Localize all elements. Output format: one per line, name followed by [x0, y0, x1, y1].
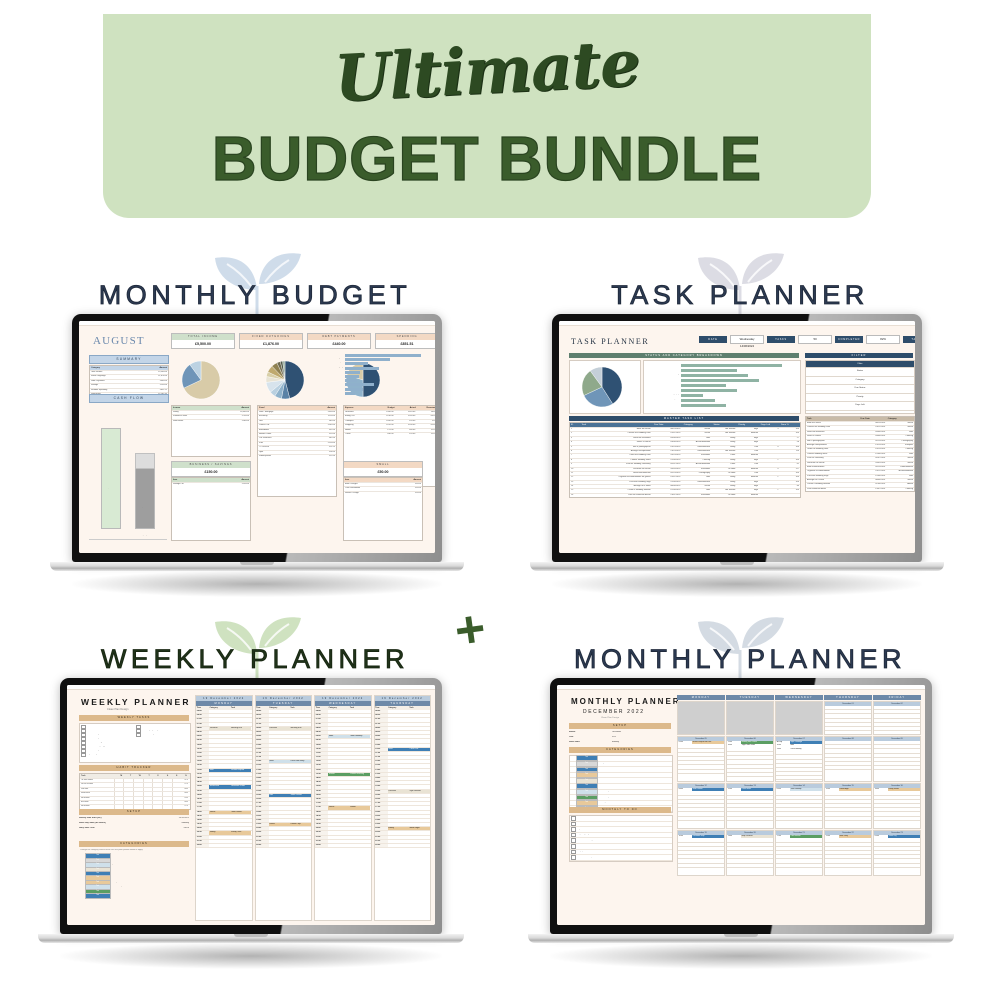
mp-event[interactable]: 13:00Wrap Presents [727, 835, 773, 838]
weekly-task-cell[interactable] [349, 752, 370, 755]
mp-day-cell[interactable]: December 02 [873, 701, 921, 735]
weekly-task-cell[interactable] [230, 714, 251, 717]
weekly-task-cell[interactable]: Team Dinner [230, 811, 251, 814]
spreadsheet-task-planner[interactable]: TASK PLANNER DATEWednesday 14/06/2024TAS… [559, 321, 915, 553]
weekly-category-cell[interactable] [328, 794, 349, 797]
weekly-task-cell[interactable] [409, 815, 430, 818]
habit-cell[interactable] [114, 788, 124, 791]
mp-empty-row[interactable] [825, 731, 871, 735]
weekly-task-cell[interactable] [349, 756, 370, 759]
spend-bar[interactable] [345, 392, 355, 395]
weekly-category-cell[interactable] [209, 840, 230, 843]
weekly-task-cell[interactable] [409, 735, 430, 738]
mp-empty-row[interactable] [727, 817, 773, 821]
weekly-task-cell[interactable] [409, 773, 430, 776]
weekly-task-cell[interactable] [409, 718, 430, 721]
weekly-category-cell[interactable] [388, 752, 409, 755]
weekly-category-cell[interactable] [209, 819, 230, 822]
weekly-task-cell[interactable]: Team Standup [349, 735, 370, 738]
habit-cell[interactable]: 29% [181, 797, 190, 800]
mp-day-cell[interactable]: December 2309:00Travel Day [873, 830, 921, 876]
weekly-category-cell[interactable] [269, 731, 290, 734]
weekly-category-cell[interactable] [328, 727, 349, 730]
tp-cat-bar[interactable] [681, 364, 782, 367]
small-table[interactable]: ItemAmountBank Charges£20.00Cash Withdra… [343, 477, 423, 541]
weekly-task-cell[interactable]: Movie Night [409, 827, 430, 830]
weekly-category-cell[interactable] [328, 744, 349, 747]
weekly-task-cell[interactable]: Parents Evening [349, 773, 370, 776]
habit-cell[interactable] [152, 801, 162, 804]
mp-empty-row[interactable] [825, 766, 871, 770]
weekly-category-cell[interactable] [269, 718, 290, 721]
weekly-category-cell[interactable] [328, 831, 349, 834]
habit-cell[interactable]: 43% [181, 788, 190, 791]
weekly-category-cell[interactable] [269, 802, 290, 805]
weekly-category-cell[interactable] [209, 777, 230, 780]
weekly-task-cell[interactable] [230, 844, 251, 847]
mp-day-cell[interactable]: December 0611:00Meeting with Charlie16:0… [726, 736, 774, 782]
weekly-task-cell[interactable]: Swim Lesson [290, 794, 311, 797]
weekly-task-cell[interactable]: School Drop-off [230, 769, 251, 772]
weekly-category-cell[interactable] [388, 840, 409, 843]
cashflow-bar[interactable] [101, 428, 121, 529]
weekly-category-cell[interactable]: Family [388, 827, 409, 830]
weekly-task-cell[interactable] [409, 739, 430, 742]
mp-empty-row[interactable] [874, 817, 920, 821]
task-table[interactable]: ID Task Due Date Category Status Priorit… [569, 422, 801, 498]
weekly-category-cell[interactable] [388, 769, 409, 772]
weekly-category-cell[interactable] [269, 844, 290, 847]
mp-empty-row[interactable] [825, 864, 871, 868]
weekly-category-cell[interactable] [328, 823, 349, 826]
weekly-task-cell[interactable] [290, 739, 311, 742]
weekly-task-cell[interactable] [409, 794, 430, 797]
habit-cell[interactable] [123, 801, 133, 804]
spend-bar[interactable] [345, 383, 374, 386]
weekly-category-cell[interactable] [388, 798, 409, 801]
task-kpi-value-2[interactable]: 82% [866, 335, 900, 344]
filter-field-3[interactable]: Due Status [806, 385, 914, 394]
weekly-task-cell[interactable] [290, 819, 311, 822]
mp-empty-row[interactable] [776, 817, 822, 821]
habit-cell[interactable] [114, 797, 124, 800]
weekly-task-cell[interactable] [230, 798, 251, 801]
mp-event[interactable]: 15:00Dentist Appt [825, 788, 871, 791]
weekly-task-cell[interactable] [349, 798, 370, 801]
mp-day-cell[interactable]: December 1618:00Family Dinner [873, 783, 921, 829]
categories-legend[interactable]: 1TextKids2TextPersonal3Textyou – School4… [79, 854, 189, 898]
weekly-category-cell[interactable] [328, 790, 349, 793]
checkbox[interactable] [571, 850, 576, 855]
weekly-category-cell[interactable] [269, 769, 290, 772]
tp-cat-bar[interactable] [681, 374, 748, 377]
weekly-task-cell[interactable] [230, 760, 251, 763]
weekly-category-cell[interactable] [388, 723, 409, 726]
habit-cell[interactable] [133, 801, 143, 804]
weekly-task-cell[interactable] [409, 764, 430, 767]
mp-day-cell[interactable]: December 1409:30Team Standup [775, 783, 823, 829]
habit-cell[interactable] [114, 779, 124, 782]
habit-cell[interactable] [133, 797, 143, 800]
weekly-task-cell[interactable] [409, 752, 430, 755]
savings-card[interactable]: BUSINESS / SAVINGS £150.00 [171, 461, 251, 477]
weekly-task-cell[interactable] [290, 744, 311, 747]
habit-cell[interactable]: No alcohol [80, 797, 114, 800]
spend-bar[interactable] [345, 358, 390, 361]
weekly-category-cell[interactable] [269, 764, 290, 767]
weekly-task-cell[interactable] [290, 731, 311, 734]
mp-event[interactable]: 12:00Lunch Break [727, 788, 773, 791]
mp-day-cell[interactable] [726, 701, 774, 735]
weekly-category-cell[interactable]: School [328, 773, 349, 776]
checkbox[interactable] [571, 822, 576, 827]
cashflow-bar[interactable] [135, 467, 155, 529]
weekly-day-column-2[interactable]: 19 December 2022WEDNESDAYTimeCategoryTas… [314, 695, 372, 921]
habit-cell[interactable] [133, 779, 143, 782]
weekly-category-cell[interactable] [388, 831, 409, 834]
weekly-task-cell[interactable] [290, 836, 311, 839]
weekly-task-cell[interactable] [290, 735, 311, 738]
habit-cell[interactable]: Tie nice towels [80, 779, 114, 782]
weekly-category-cell[interactable] [269, 827, 290, 830]
weekly-category-cell[interactable] [388, 731, 409, 734]
weekly-task-cell[interactable] [349, 769, 370, 772]
weekly-category-cell[interactable] [328, 764, 349, 767]
weekly-category-cell[interactable] [209, 714, 230, 717]
habit-cell[interactable] [123, 779, 133, 782]
habit-table[interactable]: TaskMTWTFSS% Tie nice towels57%Do fun so… [79, 773, 191, 810]
habit-cell[interactable] [114, 801, 124, 804]
weekly-task-cell[interactable] [290, 844, 311, 847]
weekly-category-cell[interactable] [269, 777, 290, 780]
mp-empty-row[interactable] [874, 864, 920, 868]
mp-event[interactable]: 10:00Christmas Shop [678, 835, 724, 838]
setup-field-value[interactable]: 06:00 [152, 827, 189, 832]
weekly-category-cell[interactable] [209, 723, 230, 726]
habit-cell[interactable] [123, 797, 133, 800]
mp-day-cell[interactable]: December 2117:00Carol Service [775, 830, 823, 876]
weekly-category-cell[interactable] [388, 823, 409, 826]
mp-day-cell[interactable]: December 09 [873, 736, 921, 782]
weekly-task-cell[interactable] [409, 731, 430, 734]
weekly-task-cell[interactable] [290, 798, 311, 801]
weekly-category-cell[interactable] [269, 723, 290, 726]
weekly-category-cell[interactable] [328, 714, 349, 717]
mp-event[interactable]: 16:00Yoga Class Tester [727, 744, 773, 747]
weekly-task-cell[interactable] [349, 815, 370, 818]
weekly-category-cell[interactable] [388, 844, 409, 847]
weekly-task-cell[interactable] [409, 840, 430, 843]
weekly-category-cell[interactable] [209, 794, 230, 797]
weekly-category-cell[interactable] [328, 777, 349, 780]
weekly-task-cell[interactable] [230, 840, 251, 843]
weekly-category-cell[interactable] [209, 710, 230, 713]
habit-cell[interactable] [172, 783, 182, 786]
mp-event[interactable]: 09:30Team Standup [776, 788, 822, 791]
weekly-category-cell[interactable] [328, 718, 349, 721]
weekly-category-cell[interactable] [328, 710, 349, 713]
weekly-category-cell[interactable] [328, 748, 349, 751]
mp-event[interactable]: 09:00Travel Day [874, 835, 920, 838]
checkbox[interactable] [571, 844, 576, 849]
mp-day-cell[interactable]: December 1910:00Christmas Shop [677, 830, 725, 876]
habit-cell[interactable]: 71% [181, 783, 190, 786]
weekly-category-cell[interactable] [328, 802, 349, 805]
weekly-task-cell[interactable] [349, 840, 370, 843]
weekly-task-cell[interactable] [290, 827, 311, 830]
habit-cell[interactable] [162, 788, 172, 791]
weekly-category-cell[interactable] [328, 811, 349, 814]
weekly-category-cell[interactable] [209, 764, 230, 767]
weekly-task-cell[interactable] [230, 819, 251, 822]
weekly-time-row[interactable]: 22:00 [256, 844, 312, 848]
weekly-task-cell[interactable] [290, 752, 311, 755]
weekly-category-cell[interactable] [388, 781, 409, 784]
weekly-task-cell[interactable] [349, 710, 370, 713]
habit-cell[interactable] [172, 801, 182, 804]
weekly-task-cell[interactable] [230, 827, 251, 830]
habit-cell[interactable]: 43% [181, 801, 190, 804]
weekly-category-cell[interactable]: Dinner [209, 811, 230, 814]
weekly-category-cell[interactable] [388, 815, 409, 818]
mp-event[interactable]: 18:00Family Dinner [874, 788, 920, 791]
weekly-category-cell[interactable] [209, 827, 230, 830]
setup-panel[interactable]: MonthDecemberYear2022Week StartMonday [569, 731, 671, 746]
checkbox[interactable] [571, 855, 576, 860]
weekly-task-cell[interactable] [290, 815, 311, 818]
weekly-category-cell[interactable] [209, 735, 230, 738]
weekly-task-cell[interactable] [290, 790, 311, 793]
weekly-task-cell[interactable] [290, 756, 311, 759]
mp-setup-value[interactable]: Monday [612, 741, 672, 746]
weekly-task-cell[interactable] [409, 806, 430, 809]
mp-event[interactable]: 14:00Office Meeting [776, 748, 822, 751]
habit-cell[interactable] [162, 779, 172, 782]
weekly-task-cell[interactable] [230, 802, 251, 805]
weekly-category-cell[interactable] [209, 798, 230, 801]
weekly-category-cell[interactable] [269, 836, 290, 839]
task-kpi-value-0[interactable]: Wednesday 14/06/2024 [730, 335, 764, 344]
mp-day-cell[interactable]: December 1208:00Swim Lesson [677, 783, 725, 829]
habit-cell[interactable] [143, 797, 153, 800]
mp-day-cell[interactable]: December 08 [824, 736, 872, 782]
weekly-category-cell[interactable] [328, 815, 349, 818]
tp-cat-bar[interactable] [681, 369, 737, 372]
weekly-category-cell[interactable]: Kids [269, 794, 290, 797]
weekly-category-cell[interactable] [209, 748, 230, 751]
weekly-task-cell[interactable] [230, 764, 251, 767]
weekly-task-cell[interactable]: Family Time [230, 831, 251, 834]
weekly-task-cell[interactable] [409, 744, 430, 747]
weekly-task-cell[interactable] [230, 823, 251, 826]
checkbox[interactable] [81, 753, 86, 758]
weekly-task-cell[interactable] [290, 840, 311, 843]
weekly-tasks-panel[interactable]: Take out the caravanLook at cookersPlant… [79, 723, 191, 763]
habit-cell[interactable] [123, 792, 133, 795]
weekly-task-cell[interactable] [349, 819, 370, 822]
weekly-category-cell[interactable] [209, 718, 230, 721]
weekly-task-cell[interactable] [409, 836, 430, 839]
weekly-task-cell[interactable] [349, 718, 370, 721]
tp-cat-bar[interactable] [681, 384, 726, 387]
weekly-task-cell[interactable] [349, 714, 370, 717]
task-side-list[interactable]: Task Due Date Category Book the venue08/… [805, 416, 915, 492]
tp-cat-bar[interactable] [681, 399, 715, 402]
weekly-task-cell[interactable] [409, 785, 430, 788]
weekly-task-cell[interactable] [349, 785, 370, 788]
habit-cell[interactable] [152, 792, 162, 795]
small-card[interactable]: SMALL £50.00 [343, 461, 423, 477]
weekly-category-cell[interactable] [269, 744, 290, 747]
weekly-task-cell[interactable] [230, 739, 251, 742]
filter-field-1[interactable]: Status [806, 368, 914, 377]
habit-cell[interactable]: Eat clean [80, 801, 114, 804]
weekly-category-cell[interactable] [328, 836, 349, 839]
weekly-task-cell[interactable] [290, 748, 311, 751]
budget-kpi-2[interactable]: DEBT PAYMENTS£440.00 [307, 333, 371, 349]
weekly-category-cell[interactable] [269, 840, 290, 843]
weekly-category-cell[interactable] [328, 769, 349, 772]
weekly-category-cell[interactable] [328, 785, 349, 788]
habit-cell[interactable]: 43% [181, 792, 190, 795]
weekly-category-cell[interactable] [269, 756, 290, 759]
weekly-category-cell[interactable] [328, 819, 349, 822]
weekly-category-cell[interactable] [269, 798, 290, 801]
weekly-category-cell[interactable] [209, 806, 230, 809]
weekly-task-cell[interactable] [290, 710, 311, 713]
weekly-task-cell[interactable] [230, 723, 251, 726]
weekly-category-cell[interactable]: Work [269, 760, 290, 763]
habit-cell[interactable] [123, 788, 133, 791]
weekly-category-cell[interactable]: Dinner [269, 823, 290, 826]
weekly-task-cell[interactable] [290, 785, 311, 788]
weekly-task-cell[interactable] [409, 723, 430, 726]
weekly-task-cell[interactable] [290, 777, 311, 780]
mp-day-cell[interactable]: December 2013:00Wrap Presents [726, 830, 774, 876]
weekly-category-cell[interactable] [209, 823, 230, 826]
spreadsheet-monthly-planner[interactable]: MONTHLY PLANNER DECEMBER 2022 Clean Plan… [557, 685, 925, 925]
mp-event[interactable]: 17:00Carol Service [776, 835, 822, 838]
weekly-category-cell[interactable] [209, 815, 230, 818]
spend-bar[interactable] [345, 379, 357, 382]
weekly-category-cell[interactable] [209, 790, 230, 793]
weekly-task-cell[interactable] [290, 718, 311, 721]
checkbox[interactable] [571, 816, 576, 821]
weekly-category-cell[interactable] [328, 752, 349, 755]
habit-cell[interactable]: Do fun so walk [80, 783, 114, 786]
habit-cell[interactable] [143, 801, 153, 804]
habit-cell[interactable] [162, 801, 172, 804]
weekly-task-cell[interactable] [409, 760, 430, 763]
habit-cell[interactable]: Plan lists [80, 788, 114, 791]
categories-legend[interactable]: 1TextPersonal2TextFamily3TextWork4TextSc… [569, 755, 673, 813]
weekly-category-cell[interactable] [269, 781, 290, 784]
habit-cell[interactable] [172, 788, 182, 791]
weekly-task-cell[interactable]: Dinner [349, 806, 370, 809]
savings-table[interactable]: ItemAmountSavings Pot£150.00 [171, 477, 251, 541]
weekly-category-cell[interactable] [328, 827, 349, 830]
habit-cell[interactable] [143, 788, 153, 791]
mp-empty-row[interactable] [874, 766, 920, 770]
habit-cell[interactable] [133, 788, 143, 791]
mp-day-cell[interactable]: December 1312:00Lunch Break [726, 783, 774, 829]
habit-cell[interactable] [133, 792, 143, 795]
weekly-task-cell[interactable] [409, 831, 430, 834]
weekly-task-cell[interactable] [409, 777, 430, 780]
checkbox[interactable] [571, 827, 576, 832]
mp-empty-row[interactable] [776, 864, 822, 868]
weekly-task-cell[interactable] [230, 806, 251, 809]
cashflow-chart[interactable]: £5,500.00Income£3,317.51Outgoings [89, 407, 167, 540]
setup-panel[interactable]: Weekly Date Start (UK)19/12/2022Week Day… [79, 817, 189, 832]
weekly-category-cell[interactable] [328, 723, 349, 726]
weekly-time-row[interactable]: 22:00 [375, 844, 431, 848]
weekly-task-cell[interactable] [349, 802, 370, 805]
summary-table[interactable]: Category Amount Total Income£5,500.00Fix… [89, 365, 169, 397]
weekly-task-cell[interactable] [409, 802, 430, 805]
mp-day-cell[interactable] [775, 701, 823, 735]
weekly-category-cell[interactable] [388, 744, 409, 747]
weekly-category-cell[interactable]: Personal [269, 727, 290, 730]
weekly-task-cell[interactable] [230, 836, 251, 839]
weekly-category-cell[interactable] [269, 773, 290, 776]
weekly-task-cell[interactable] [290, 806, 311, 809]
weekly-task-cell[interactable] [230, 815, 251, 818]
weekly-category-cell[interactable] [388, 819, 409, 822]
fixed-table[interactable]: Fixed Amount Rent / Mortgage£950.00Elect… [257, 405, 337, 497]
weekly-task-cell[interactable] [349, 739, 370, 742]
spend-bar[interactable] [345, 375, 359, 378]
habit-cell[interactable] [114, 792, 124, 795]
weekly-task-cell[interactable] [349, 823, 370, 826]
budget-kpi-3[interactable]: SPENDING£851.51 [375, 333, 435, 349]
weekly-task-cell[interactable] [230, 735, 251, 738]
spend-bar[interactable] [345, 362, 368, 365]
weekly-category-cell[interactable] [328, 739, 349, 742]
monthly-calendar-grid[interactable]: MONDAYTUESDAYWEDNESDAYTHURSDAYFRIDAYDece… [677, 695, 921, 921]
weekly-task-cell[interactable] [230, 731, 251, 734]
budget-kpi-0[interactable]: TOTAL INCOME£5,500.00 [171, 333, 235, 349]
weekly-time-row[interactable]: 22:00 [196, 844, 252, 848]
weekly-task-cell[interactable] [349, 748, 370, 751]
weekly-category-cell[interactable] [388, 760, 409, 763]
mp-empty-row[interactable] [727, 773, 773, 777]
weekly-task-cell[interactable] [349, 836, 370, 839]
habit-cell[interactable] [133, 783, 143, 786]
weekly-day-grid[interactable]: 19 December 2022MONDAYTimeCategoryTask06… [195, 695, 431, 921]
weekly-category-cell[interactable] [388, 777, 409, 780]
mp-todo-item-7[interactable]: Plan New Year trip [570, 855, 672, 861]
filter-field-2[interactable]: Category [806, 377, 914, 386]
weekly-category-cell[interactable]: Work [328, 735, 349, 738]
weekly-task-cell[interactable] [230, 773, 251, 776]
weekly-category-cell[interactable] [209, 836, 230, 839]
habit-cell[interactable] [143, 779, 153, 782]
habit-cell[interactable] [172, 792, 182, 795]
weekly-category-cell[interactable] [388, 764, 409, 767]
weekly-category-cell[interactable] [388, 718, 409, 721]
weekly-task-cell[interactable] [349, 827, 370, 830]
weekly-task-cell[interactable] [349, 781, 370, 784]
filter-field-0[interactable]: Filter [806, 361, 914, 368]
category-bar-chart[interactable]: AccommodationAdminCateringEntertainmentG… [643, 360, 801, 414]
checkbox[interactable] [571, 833, 576, 838]
income-table[interactable]: Income Amount Salary£4,000.00Freelance W… [171, 405, 251, 457]
weekly-task-item[interactable]: Buy holiday clothes [81, 753, 134, 757]
weekly-task-cell[interactable] [349, 794, 370, 797]
mp-empty-row[interactable] [874, 731, 920, 735]
mp-empty-row[interactable] [825, 817, 871, 821]
